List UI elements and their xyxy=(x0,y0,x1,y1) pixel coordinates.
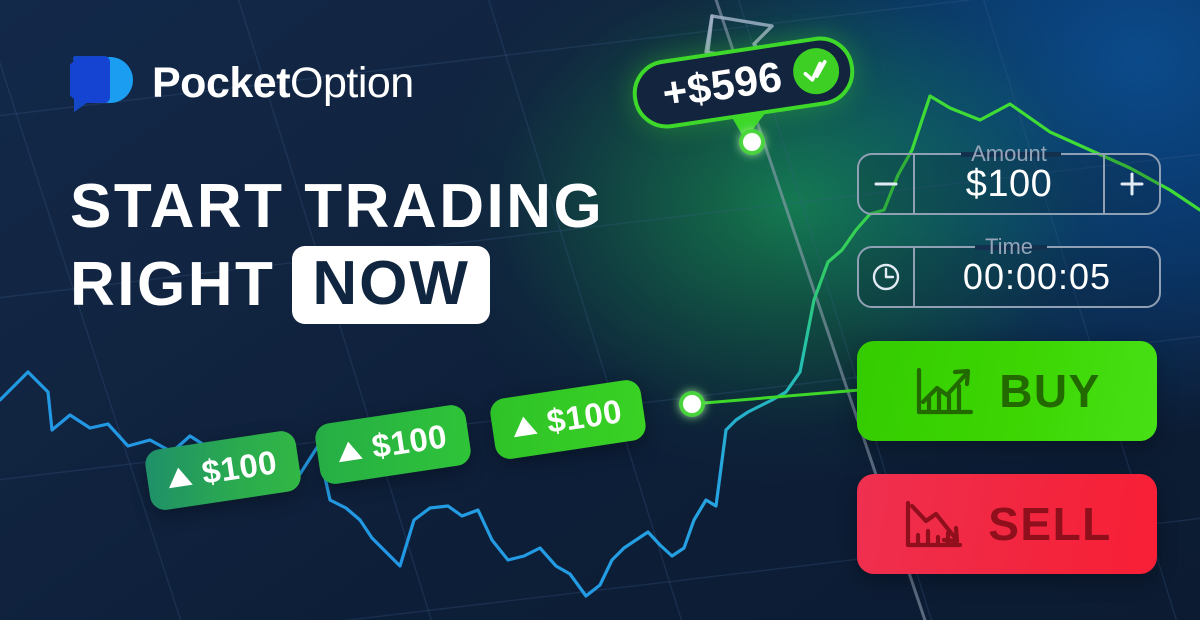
brand-name-bold: Pocket xyxy=(152,59,290,107)
headline-line-2: RIGHT NOW xyxy=(70,246,604,324)
triangle-up-icon xyxy=(511,414,538,436)
triangle-up-icon xyxy=(166,465,193,487)
sell-button[interactable]: SELL xyxy=(857,474,1157,574)
entry-point-marker xyxy=(679,391,705,417)
headline-line-1: START TRADING xyxy=(70,168,604,246)
buy-button-label: BUY xyxy=(999,364,1101,418)
sell-button-label: SELL xyxy=(988,497,1112,551)
brand-logo[interactable]: PocketOption xyxy=(70,50,414,116)
minus-icon xyxy=(871,169,901,199)
trade-pill: $100 xyxy=(488,378,648,461)
pocketoption-speech-bubble-logo xyxy=(70,50,136,116)
trade-pill-amount: $100 xyxy=(544,392,624,441)
amount-field[interactable]: $100 Amount xyxy=(857,153,1161,215)
triangle-up-icon xyxy=(336,439,363,461)
clock-icon xyxy=(869,260,903,294)
profit-amount: +$596 xyxy=(660,56,785,115)
trade-pill-amount: $100 xyxy=(369,417,449,466)
trade-pill-amount: $100 xyxy=(199,443,279,492)
legend-border-gap xyxy=(975,245,1047,250)
plus-icon xyxy=(1117,169,1147,199)
profit-badge: +$596 xyxy=(628,32,859,133)
buy-button[interactable]: BUY xyxy=(857,341,1157,441)
promo-banner: PocketOption START TRADING RIGHT NOW $10… xyxy=(0,0,1200,620)
brand-name: PocketOption xyxy=(152,62,414,105)
amount-value[interactable]: $100 xyxy=(915,155,1103,213)
trade-pill: $100 xyxy=(143,429,303,512)
entry-price-line xyxy=(692,390,860,404)
headline: START TRADING RIGHT NOW xyxy=(70,168,604,324)
amount-increment-button[interactable] xyxy=(1103,155,1159,213)
double-check-icon xyxy=(790,45,842,97)
chart-trend-down-icon xyxy=(902,495,966,553)
time-field[interactable]: 00:00:05 Time xyxy=(857,246,1161,308)
amount-decrement-button[interactable] xyxy=(859,155,915,213)
exit-point-marker xyxy=(739,129,765,155)
time-picker-button[interactable] xyxy=(859,248,915,306)
time-value[interactable]: 00:00:05 xyxy=(915,248,1159,306)
legend-border-gap xyxy=(961,152,1061,157)
trade-pill: $100 xyxy=(313,403,473,486)
trade-panel: $100 Amount 00:00:05 T xyxy=(857,153,1161,308)
headline-line-2-prefix: RIGHT xyxy=(70,246,275,324)
brand-name-light: Option xyxy=(290,59,414,107)
headline-highlight-now: NOW xyxy=(292,246,490,324)
chart-trend-up-icon xyxy=(913,362,977,420)
